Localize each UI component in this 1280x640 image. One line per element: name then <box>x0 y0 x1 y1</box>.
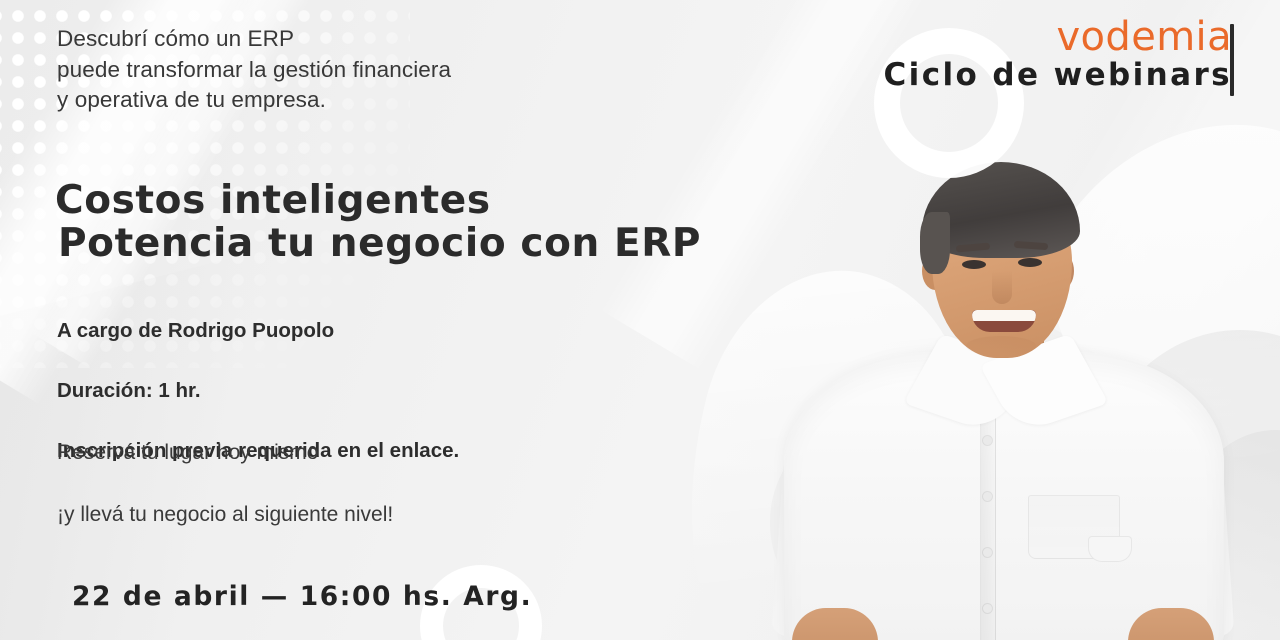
date-time-line: 22 de abril — 16:00 hs. Arg. <box>72 581 532 612</box>
speaker-name-line: A cargo de Rodrigo Puopolo <box>57 316 459 346</box>
webinar-banner: Descubrí cómo un ERP puede transformar l… <box>0 0 1280 640</box>
cta-line-1: Reservá tu lugar hoy mismo <box>57 437 393 468</box>
brand-tagline: Ciclo de webinars <box>884 56 1232 94</box>
headline-line-2: Potencia tu negocio con ERP <box>55 222 701 265</box>
cta-block: Reservá tu lugar hoy mismo ¡y llevá tu n… <box>57 406 393 561</box>
logo-divider-bar <box>1230 24 1234 96</box>
intro-paragraph: Descubrí cómo un ERP puede transformar l… <box>57 24 451 116</box>
duration-line: Duración: 1 hr. <box>57 376 459 406</box>
banner-content: Descubrí cómo un ERP puede transformar l… <box>0 0 1280 640</box>
brand-name: vodemia <box>884 16 1232 58</box>
brand-logo: vodemia Ciclo de webinars <box>884 16 1232 94</box>
headline-block: Costos inteligentes Potencia tu negocio … <box>55 136 701 308</box>
cta-line-2: ¡y llevá tu negocio al siguiente nivel! <box>57 499 393 530</box>
headline-line-1: Costos inteligentes <box>55 178 491 223</box>
